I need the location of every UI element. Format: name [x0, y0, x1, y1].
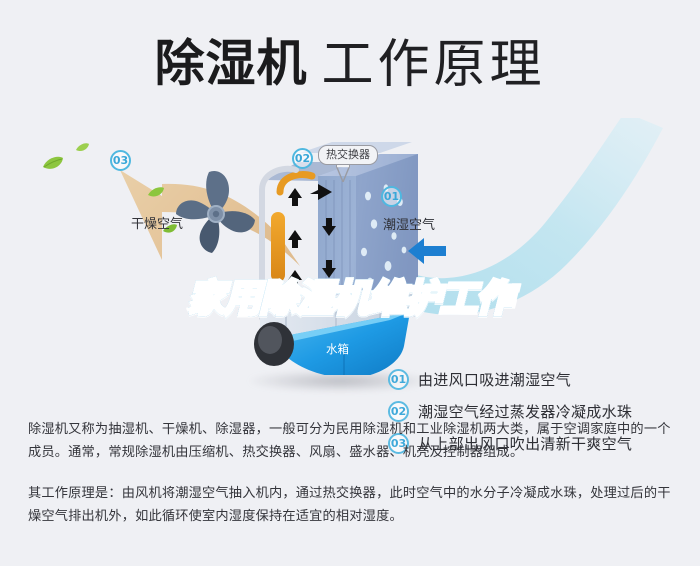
- page-title: 除湿机工作原理: [0, 22, 700, 97]
- page-title-part1: 除湿机: [154, 35, 307, 93]
- label-water-tank: 水箱: [326, 341, 349, 357]
- page-title-part2: 工作原理: [321, 35, 545, 95]
- page-root: 除湿机工作原理: [0, 0, 700, 566]
- leaf-icon: [76, 140, 89, 158]
- callout-pointer-icon: [336, 165, 350, 182]
- callout-heat-exchanger: 热交换器: [318, 145, 378, 165]
- legend-badge-01: 01: [388, 369, 409, 390]
- body-paragraph-1-wrap: 除湿机又称为抽湿机、干燥机、除湿器，一般可分为民用除湿机和工业除湿机两大类，属于…: [28, 418, 676, 464]
- legend-text-01: 由进风口吸进潮湿空气: [418, 369, 571, 390]
- badge-03: 03: [110, 150, 131, 171]
- badge-02: 02: [292, 148, 313, 169]
- leaf-icon: [42, 156, 64, 177]
- body-paragraph-2: 其工作原理是：由风机将潮湿空气抽入机内，通过热交换器，此时空气中的水分子冷凝成水…: [28, 482, 676, 528]
- label-dry-air: 干燥空气: [131, 213, 183, 232]
- legend-item: 01 由进风口吸进潮湿空气: [388, 366, 688, 398]
- badge-01: 01: [381, 186, 402, 207]
- label-humid-air: 潮湿空气: [383, 214, 435, 233]
- leaf-icon: [148, 186, 164, 204]
- dehumidifier-diagram: 03 02 01 热交换器 干燥空气 潮湿空气 水箱 01 由进风口吸进潮湿空气…: [0, 118, 700, 398]
- body-paragraph-1: 除湿机又称为抽湿机、干燥机、除湿器，一般可分为民用除湿机和工业除湿机两大类，属于…: [28, 418, 676, 464]
- body-paragraph-2-wrap: 其工作原理是：由风机将潮湿空气抽入机内，通过热交换器，此时空气中的水分子冷凝成水…: [28, 482, 676, 528]
